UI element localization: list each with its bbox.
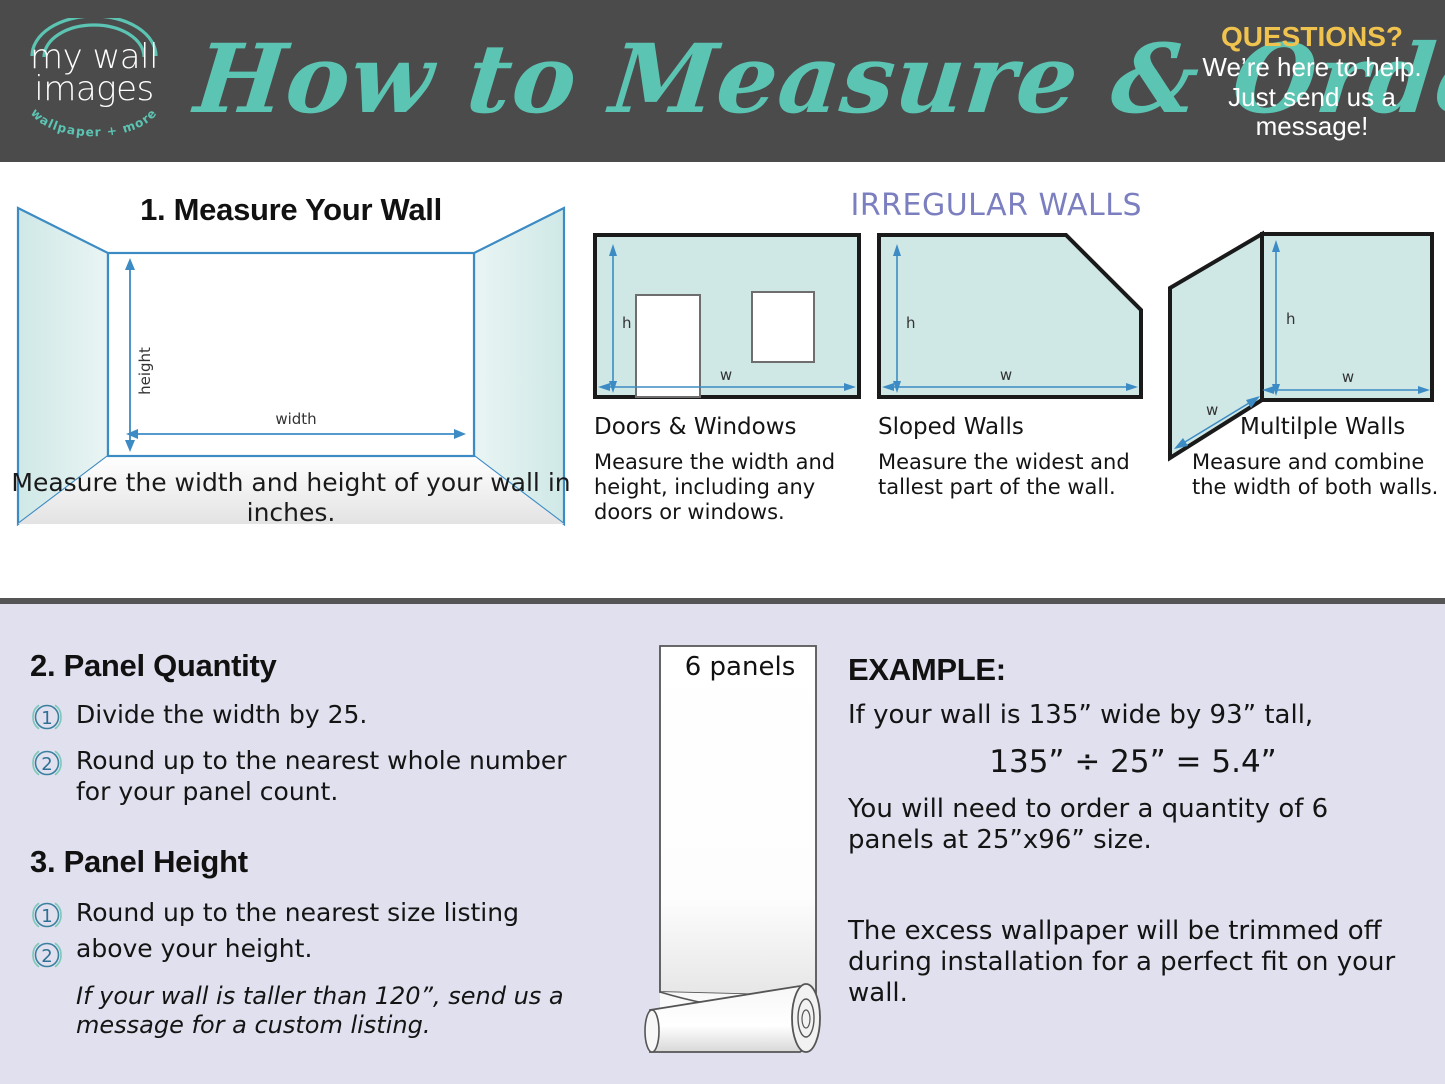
svg-text:1: 1 bbox=[41, 906, 52, 927]
example-line-3: The excess wallpaper will be trimmed off… bbox=[848, 916, 1408, 1010]
doors-windows-diagram: h w bbox=[592, 232, 862, 400]
questions-body: We’re here to help. Just send us a messa… bbox=[1193, 53, 1431, 141]
questions-block: QUESTIONS? We’re here to help. Just send… bbox=[1193, 22, 1431, 142]
logo-tagline: wallpaper + more bbox=[19, 108, 169, 138]
badge-3-icon: 1 bbox=[30, 898, 64, 932]
header-bar: my wall images wallpaper + more How to M… bbox=[0, 0, 1445, 162]
questions-heading: QUESTIONS? bbox=[1193, 22, 1431, 51]
room-diagram: height width 1. Measure Your Wall Measur… bbox=[8, 176, 574, 536]
case-label-doors-windows: Doors & Windows bbox=[594, 414, 797, 440]
roll-end bbox=[792, 984, 820, 1052]
badge-1-icon: 1 bbox=[30, 700, 64, 734]
example-line-2: You will need to order a quantity of 6 p… bbox=[848, 794, 1408, 856]
measure-section: height width 1. Measure Your Wall Measur… bbox=[0, 162, 1445, 602]
svg-text:1: 1 bbox=[41, 708, 52, 729]
roll-svg bbox=[640, 640, 840, 1070]
w-label-side: w bbox=[1206, 401, 1218, 419]
logo-wordmark: my wall images bbox=[30, 42, 158, 105]
page-title: How to Measure & Order bbox=[189, 8, 1194, 150]
h-label: h bbox=[1286, 310, 1296, 328]
badge-2-icon: 2 bbox=[30, 746, 64, 780]
sheet-shape bbox=[660, 646, 816, 996]
door-shape bbox=[636, 295, 700, 397]
wallpaper-roll-illustration bbox=[640, 640, 840, 1070]
case-desc-sloped-walls: Measure the widest and tallest part of t… bbox=[878, 450, 1146, 500]
step2-title: 2. Panel Quantity bbox=[30, 648, 276, 684]
step3-title: 3. Panel Height bbox=[30, 844, 248, 880]
h-label: h bbox=[906, 314, 916, 332]
step1-caption: Measure the width and height of your wal… bbox=[8, 468, 574, 527]
ordering-section: 2. Panel Quantity 1 Divide the width by … bbox=[0, 604, 1445, 1084]
w-label-front: w bbox=[1342, 368, 1354, 386]
case-desc-doors-windows: Measure the width and height, including … bbox=[594, 450, 862, 524]
case-label-multiple-walls: Multilple Walls bbox=[1240, 414, 1405, 440]
step1-title: 1. Measure Your Wall bbox=[8, 192, 574, 228]
step2-item-2-text: Round up to the nearest whole number for… bbox=[76, 746, 576, 807]
w-label: w bbox=[1000, 366, 1012, 384]
badge-4-icon: 2 bbox=[30, 938, 64, 972]
irregular-walls-title: IRREGULAR WALLS bbox=[832, 188, 1142, 223]
case-desc-multiple-walls: Measure and combine the width of both wa… bbox=[1192, 450, 1442, 500]
svg-text:2: 2 bbox=[41, 754, 52, 775]
step2-item-1-text: Divide the width by 25. bbox=[76, 700, 576, 731]
width-label: width bbox=[275, 410, 316, 428]
h-label: h bbox=[622, 314, 632, 332]
infographic-page: my wall images wallpaper + more How to M… bbox=[0, 0, 1445, 1084]
example-line-1: If your wall is 135” wide by 93” tall, bbox=[848, 700, 1428, 731]
height-label: height bbox=[136, 347, 154, 395]
roll-panel-count-label: 6 panels bbox=[660, 652, 820, 682]
sloped-walls-diagram: h w bbox=[876, 232, 1144, 400]
brand-logo: my wall images wallpaper + more bbox=[14, 16, 174, 148]
step3-item-1-text: Round up to the nearest size listing bbox=[76, 898, 576, 929]
example-heading: EXAMPLE: bbox=[848, 652, 1006, 688]
example-calculation: 135” ÷ 25” = 5.4” bbox=[848, 744, 1418, 780]
svg-text:2: 2 bbox=[41, 946, 52, 967]
logo-line-2: images bbox=[30, 74, 158, 105]
step3-note: If your wall is taller than 120”, send u… bbox=[76, 982, 566, 1041]
w-label: w bbox=[720, 366, 732, 384]
case-label-sloped-walls: Sloped Walls bbox=[878, 414, 1024, 440]
window-shape bbox=[752, 292, 814, 362]
step3-item-2-text: above your height. bbox=[76, 934, 576, 965]
svg-text:wallpaper + more: wallpaper + more bbox=[28, 108, 160, 138]
